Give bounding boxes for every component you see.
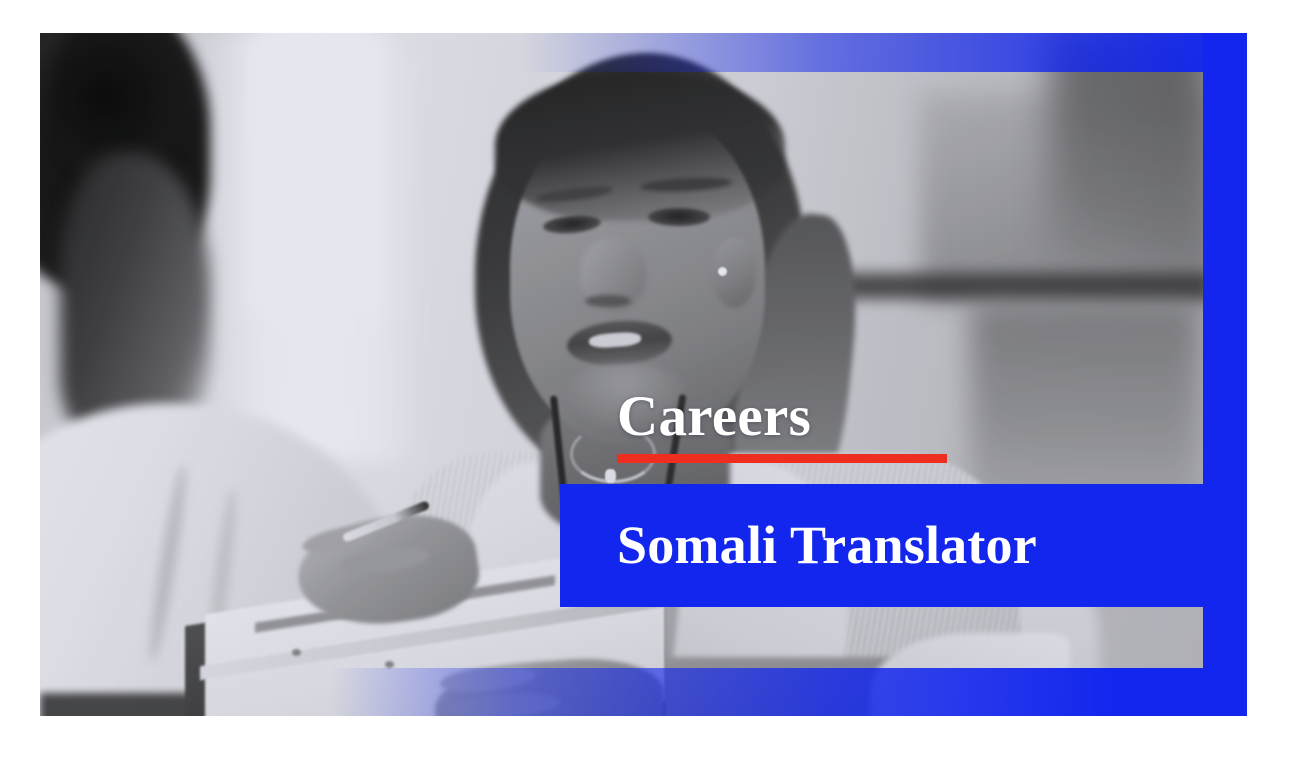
right-blue-bar [1203, 33, 1247, 716]
eyebrow-group: Careers [617, 388, 947, 468]
careers-hero-banner: Careers Somali Translator [40, 33, 1247, 716]
eyebrow-label: Careers [617, 388, 947, 445]
hero-photo-blue-tint [40, 33, 1203, 716]
eyebrow-red-rule [617, 454, 947, 463]
hero-photo [40, 33, 1203, 716]
page-title: Somali Translator [617, 518, 1237, 572]
top-blue-bar [520, 33, 1247, 72]
bottom-blue-bar [330, 668, 1247, 716]
